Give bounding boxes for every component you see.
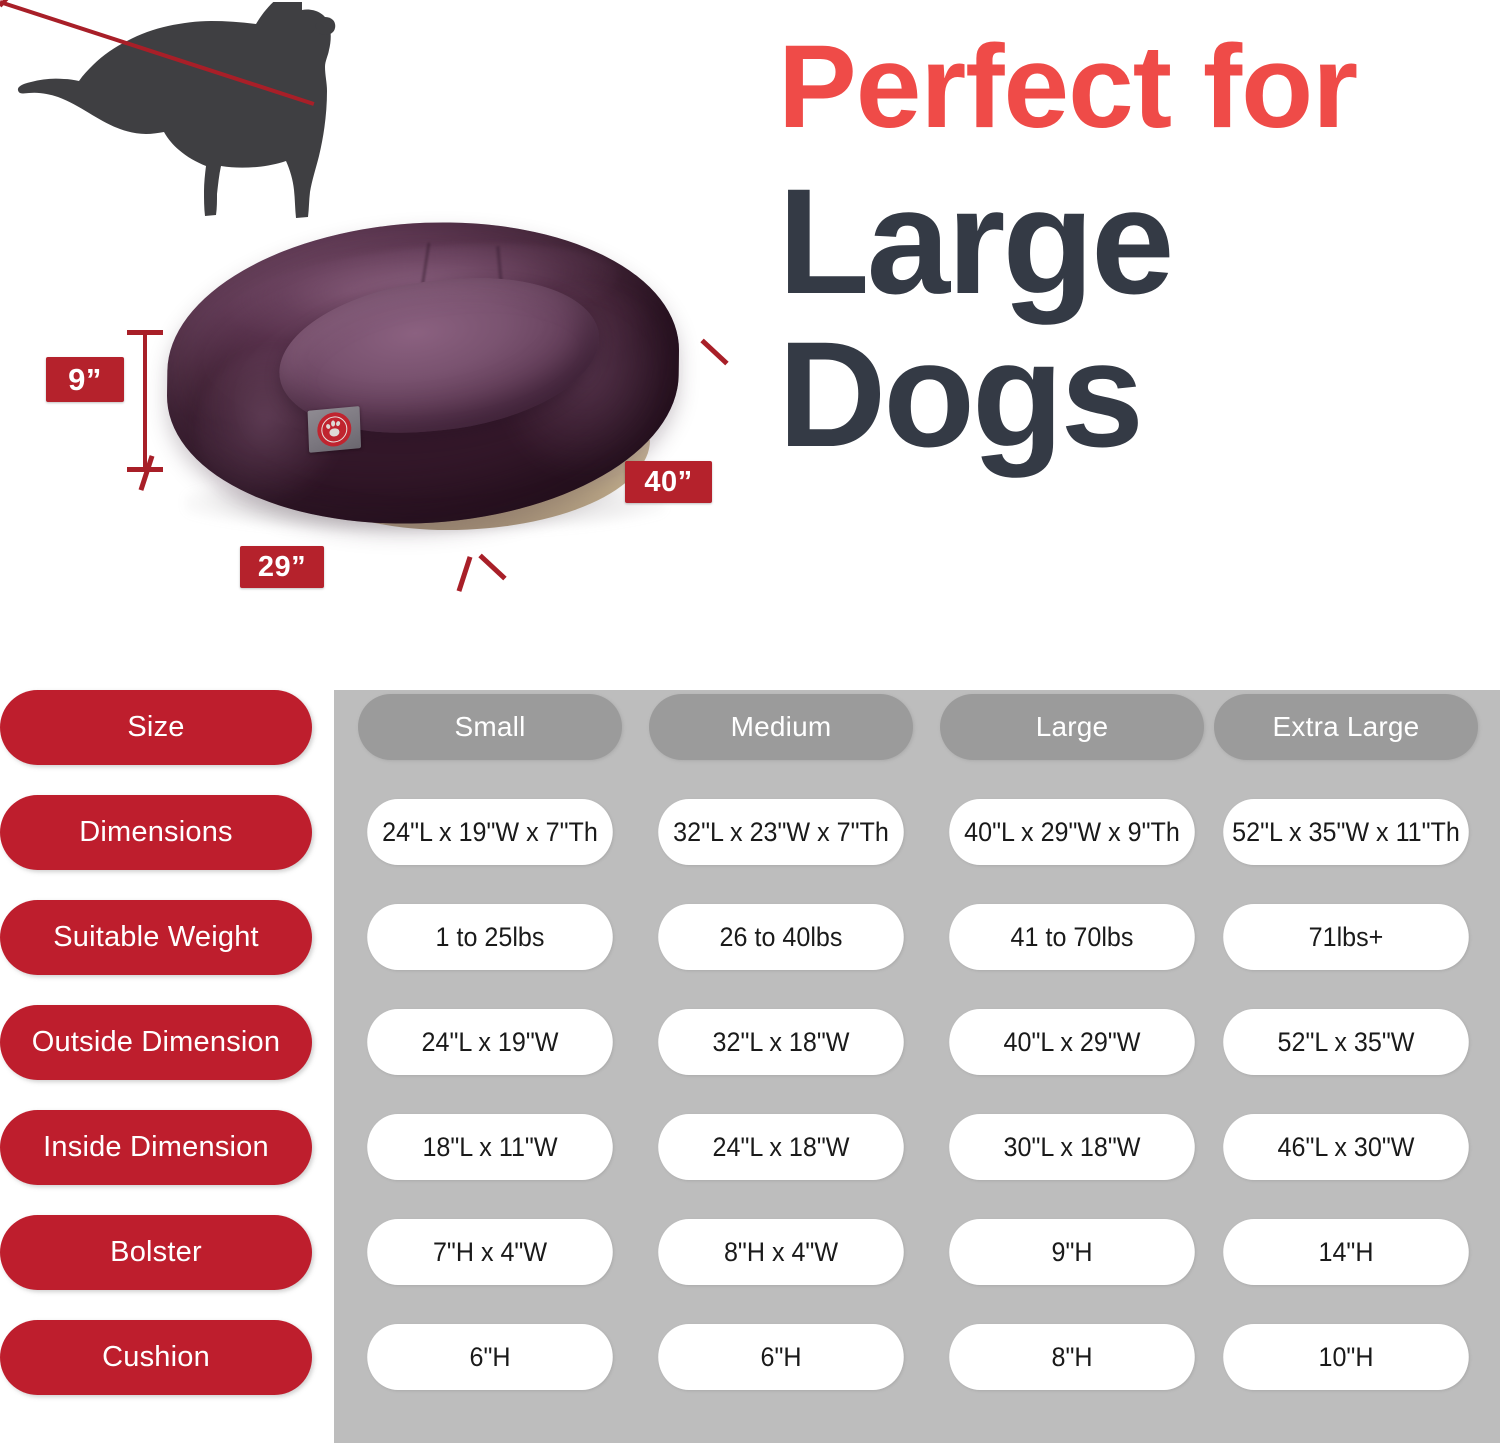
table-row: 1 to 25lbs 26 to 40lbs 41 to 70lbs 71lbs… [334,904,1500,979]
column-header-medium: Medium [649,694,913,760]
table-cell: 1 to 25lbs [367,904,613,970]
hero-section: 9” 29” 40” Perfect for Large Dogs [0,0,1500,660]
row-label-inside-dimension: Inside Dimension [0,1110,312,1185]
depth-cap-bottom [478,554,506,581]
table-row: 7"H x 4"W 8"H x 4"W 9"H 14"H [334,1219,1500,1294]
table-cell: 9"H [949,1219,1195,1285]
table-cell: 6"H [367,1324,613,1390]
table-cell: 30"L x 18"W [949,1114,1195,1180]
table-row: 18"L x 11"W 24"L x 18"W 30"L x 18"W 46"L… [334,1114,1500,1189]
row-label-dimensions: Dimensions [0,795,312,870]
column-header-extra-large: Extra Large [1214,694,1478,760]
table-row: 24"L x 19"W x 7"Th 32"L x 23"W x 7"Th 40… [334,799,1500,874]
headline-block: Perfect for Large Dogs [778,30,1478,468]
column-header-large: Large [940,694,1204,760]
table-cell: 24"L x 18"W [658,1114,904,1180]
table-cell: 41 to 70lbs [949,904,1195,970]
table-cell: 6"H [658,1324,904,1390]
table-cell: 24"L x 19"W [367,1009,613,1075]
depth-cap-top [700,339,728,366]
height-dimension-line [143,330,147,472]
table-cell: 26 to 40lbs [658,904,904,970]
row-label-suitable-weight: Suitable Weight [0,900,312,975]
table-cell: 52"L x 35"W [1223,1009,1469,1075]
table-cell: 32"L x 23"W x 7"Th [658,799,904,865]
table-cell: 18"L x 11"W [367,1114,613,1180]
row-label-outside-dimension: Outside Dimension [0,1005,312,1080]
table-cell: 40"L x 29"W [949,1009,1195,1075]
headline-line-2: Large [778,168,1478,315]
table-cell: 8"H [949,1324,1195,1390]
table-cell: 40"L x 29"W x 9"Th [949,799,1195,865]
headline-line-1: Perfect for [778,30,1478,146]
row-label-cushion: Cushion [0,1320,312,1395]
headline-line-3: Dogs [778,321,1478,468]
table-cell: 8"H x 4"W [658,1219,904,1285]
depth-callout-badge: 40” [625,461,712,503]
table-row: 6"H 6"H 8"H 10"H [334,1324,1500,1399]
row-label-bolster: Bolster [0,1215,312,1290]
width-callout-badge: 29” [240,546,324,588]
row-label-size: Size [0,690,312,765]
table-cell: 10"H [1223,1324,1469,1390]
brand-tag [308,406,362,453]
table-cell: 7"H x 4"W [367,1219,613,1285]
table-cell: 32"L x 18"W [658,1009,904,1075]
height-callout-badge: 9” [46,357,124,402]
table-cell: 24"L x 19"W x 7"Th [367,799,613,865]
column-header-small: Small [358,694,622,760]
table-cell: 14"H [1223,1219,1469,1285]
table-header-row: Small Medium Large Extra Large [334,694,1500,769]
spec-table: Size Dimensions Suitable Weight Outside … [0,680,1500,1443]
table-cell: 52"L x 35"W x 11"Th [1223,799,1469,865]
table-cell: 71lbs+ [1223,904,1469,970]
brand-tag-ring [317,411,352,448]
height-cap-top [127,330,163,335]
paw-print-icon [325,420,344,440]
product-photo [155,205,690,550]
table-cell: 46"L x 30"W [1223,1114,1469,1180]
table-row: 24"L x 19"W 32"L x 18"W 40"L x 29"W 52"L… [334,1009,1500,1084]
width-cap-right [457,556,473,592]
